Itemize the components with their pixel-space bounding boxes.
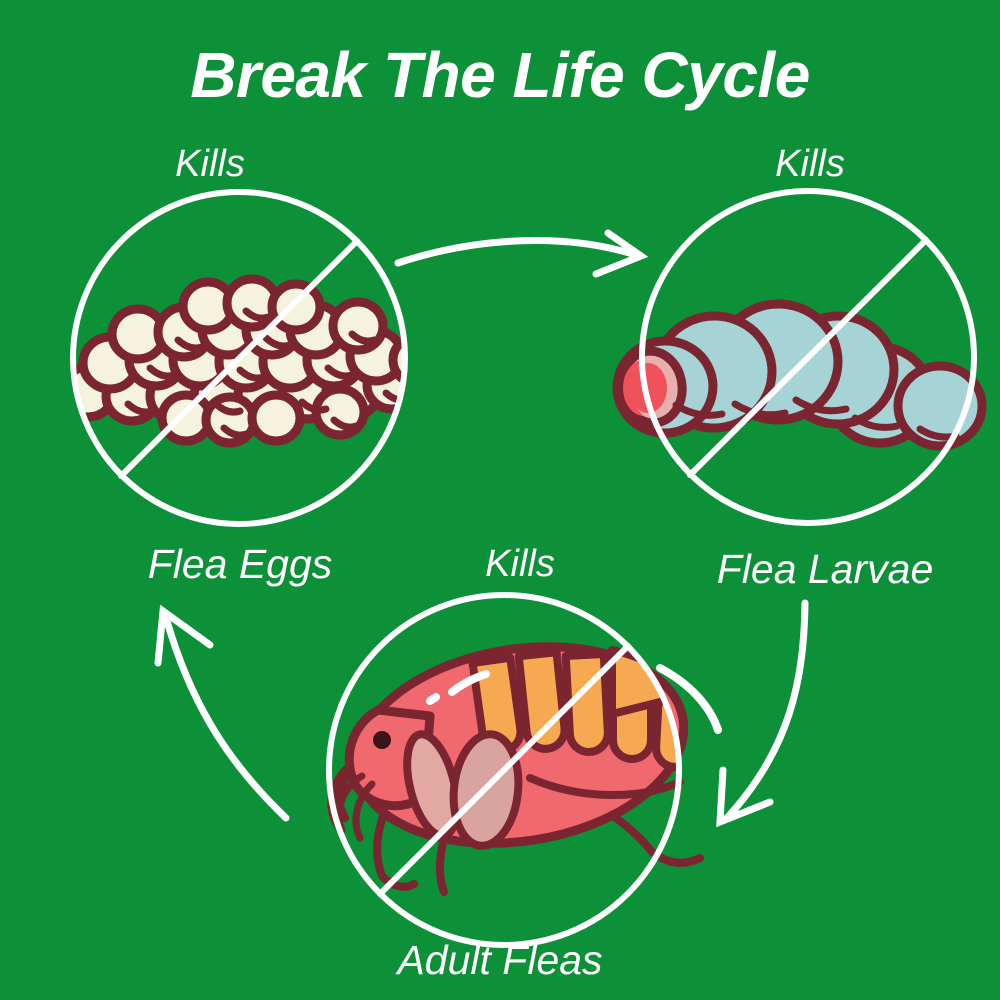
arrow-larvae-to-adult: [720, 603, 805, 822]
stage-adult-flea-graphic: [329, 595, 718, 945]
kills-label-flea-eggs: Kills: [80, 143, 340, 186]
arrow-eggs-to-larvae: [398, 233, 641, 274]
stage-label-flea-larvae: Flea Larvae: [680, 546, 970, 593]
page-title: Break The Life Cycle: [0, 38, 1000, 112]
kills-label-flea-larvae: Kills: [680, 143, 940, 186]
infographic-canvas: Break The Life Cycle Kills Kills Kills F…: [0, 0, 1000, 1000]
stage-flea-eggs-graphic: [18, 192, 443, 524]
flea-eye: [373, 731, 391, 749]
arrow-adult-to-eggs: [158, 611, 286, 818]
stage-label-adult-fleas: Adult Fleas: [360, 937, 640, 984]
stage-label-flea-eggs: Flea Eggs: [100, 541, 380, 588]
kills-label-adult-fleas: Kills: [390, 543, 650, 586]
stage-flea-larvae-graphic: [611, 191, 982, 523]
